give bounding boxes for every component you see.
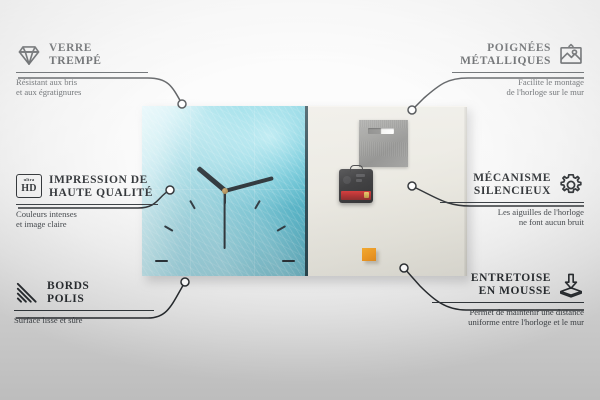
foam-spacer xyxy=(362,248,376,261)
feature-header: ultra HD IMPRESSION DE HAUTE QUALITÉ xyxy=(16,174,158,200)
feature-subtitle: Couleurs intenses et image claire xyxy=(16,209,158,230)
hanger-slot xyxy=(368,128,394,134)
clock-tick xyxy=(164,225,174,232)
foam-spacer-icon xyxy=(558,272,584,298)
quartz-mechanism xyxy=(339,169,373,203)
feature-rule xyxy=(452,72,584,73)
feature-impression: ultra HD IMPRESSION DE HAUTE QUALITÉ Cou… xyxy=(16,174,158,230)
mechanism-detail xyxy=(343,176,351,184)
product-image xyxy=(142,104,467,279)
picture-hanger-icon xyxy=(558,42,584,68)
gear-icon xyxy=(558,172,584,198)
feature-bords-polis: BORDS POLIS Surface lisse et sûre xyxy=(14,280,154,325)
feature-header: POIGNÉES MÉTALLIQUES xyxy=(452,42,584,68)
feature-title: POIGNÉES MÉTALLIQUES xyxy=(460,42,551,67)
feature-poignees-metalliques: POIGNÉES MÉTALLIQUES Facilite le montage… xyxy=(452,42,584,98)
feature-subtitle: Facilite le montage de l'horloge sur le … xyxy=(452,77,584,98)
diamond-icon xyxy=(16,42,42,68)
mechanism-detail xyxy=(356,179,362,182)
feature-title: IMPRESSION DE HAUTE QUALITÉ xyxy=(49,174,153,199)
feature-header: ENTRETOISE EN MOUSSE xyxy=(432,272,584,298)
feature-title: VERRE TREMPÉ xyxy=(49,42,102,67)
mechanism-hanging-tab xyxy=(350,165,363,172)
feature-subtitle: Surface lisse et sûre xyxy=(14,315,154,325)
feature-rule xyxy=(432,302,584,303)
clock-tick xyxy=(282,260,295,262)
clock-dial xyxy=(142,106,308,276)
clock-tick xyxy=(254,200,261,210)
feature-header: VERRE TREMPÉ xyxy=(16,42,148,68)
ultra-hd-icon: ultra HD xyxy=(16,174,42,200)
feature-mecanisme-silencieux: MÉCANISME SILENCIEUX Les aiguilles de l'… xyxy=(440,172,584,228)
ultra-hd-large-text: HD xyxy=(21,184,37,194)
feature-rule xyxy=(440,202,584,203)
clock-tick xyxy=(189,200,196,210)
clock-minute-hand xyxy=(224,176,273,193)
feature-rule xyxy=(14,310,154,311)
clock-tick xyxy=(276,225,286,232)
feature-entretoise-mousse: ENTRETOISE EN MOUSSE Permet de maintenir… xyxy=(432,272,584,328)
feature-subtitle: Résistant aux bris et aux égratignures xyxy=(16,77,148,98)
clock-center-cap xyxy=(222,188,228,194)
feature-header: MÉCANISME SILENCIEUX xyxy=(440,172,584,198)
glass-clock-face xyxy=(142,106,308,276)
mechanism-detail xyxy=(356,174,365,177)
feature-title: ENTRETOISE EN MOUSSE xyxy=(471,272,551,297)
clock-tick xyxy=(155,260,168,262)
polished-edge-icon xyxy=(14,280,40,306)
feature-verre-trempe: VERRE TREMPÉ Résistant aux bris et aux é… xyxy=(16,42,148,98)
feature-subtitle: Permet de maintenir une distance uniform… xyxy=(432,307,584,328)
feature-title: MÉCANISME SILENCIEUX xyxy=(473,172,551,197)
feature-subtitle: Les aiguilles de l'horloge ne font aucun… xyxy=(440,207,584,228)
hanger-plate xyxy=(359,120,408,167)
mechanism-battery xyxy=(341,191,371,200)
feature-title: BORDS POLIS xyxy=(47,280,89,305)
clock-second-hand xyxy=(224,191,226,249)
feature-rule xyxy=(16,72,148,73)
feature-rule xyxy=(16,204,158,205)
infographic-canvas: VERRE TREMPÉ Résistant aux bris et aux é… xyxy=(0,0,600,400)
feature-header: BORDS POLIS xyxy=(14,280,154,306)
